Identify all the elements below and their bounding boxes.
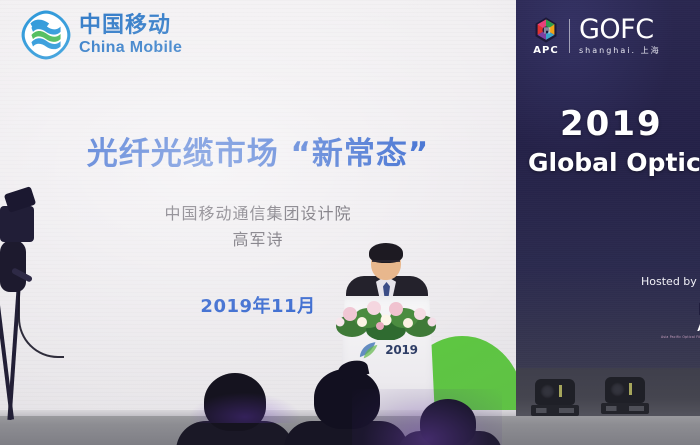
light-base-label [606,406,644,411]
gofc-wordmark: GOFC [579,16,661,43]
hosted-apc-tagline: Asia Pacific Optical Fiber & Cable Indus… [661,335,700,339]
apc-hexagon-logo-icon [696,296,700,322]
china-mobile-logo: 中国移动 China Mobile [20,6,195,64]
stage-light-1 [531,379,579,421]
hosted-by-logo: APC Asia Pacific Optical Fiber & Cable I… [661,296,700,339]
audience-silhouette-3 [398,393,502,445]
audience-head [420,399,476,445]
banner-year: 2019 [560,104,663,144]
banner-headline: Global Optica [528,148,700,177]
light-lens [540,384,555,399]
slide-speaker-name: 高军诗 [0,226,516,250]
podium-year-label: 2019 [385,343,418,357]
video-camera-on-tripod [0,176,62,421]
gofc-logo: GOFC shanghai. 上海 [579,16,661,56]
light-lens [610,382,625,397]
china-mobile-wave-mark-icon [20,9,72,61]
apc-logo: APC [532,16,560,56]
audience-head [204,373,266,431]
china-mobile-name-en: China Mobile [79,40,182,56]
light-accent-strip [559,385,562,397]
audience-silhouette-2 [284,369,408,445]
banner-logo-row: APC GOFC shanghai. 上海 [532,16,661,56]
light-accent-strip [629,383,632,395]
audience-silhouette-1 [176,373,294,445]
gofc-location-label: shanghai. 上海 [579,45,661,56]
slide-organization: 中国移动通信集团设计院 [0,200,516,224]
conference-stage-photo: 中国移动 China Mobile 光纤光缆市场 “新常态” 中国移动通信集团设… [0,0,700,445]
logo-divider [569,19,570,53]
gofc-leaf-mark-icon [356,339,382,361]
camera-barrel [0,240,26,292]
stage-light-2 [601,377,649,419]
apc-wordmark: APC [533,45,558,56]
podium-flower-arrangement [330,292,442,340]
podium-logo: 2019 [345,337,429,363]
hosted-by-label: Hosted by [641,275,697,288]
china-mobile-name-cn: 中国移动 [79,15,182,37]
speaker-glasses [372,260,400,269]
slide-title: 光纤光缆市场 “新常态” [0,128,516,173]
light-base-label [536,408,574,413]
camera-body [0,206,34,242]
apc-hexagon-logo-icon [532,16,560,44]
